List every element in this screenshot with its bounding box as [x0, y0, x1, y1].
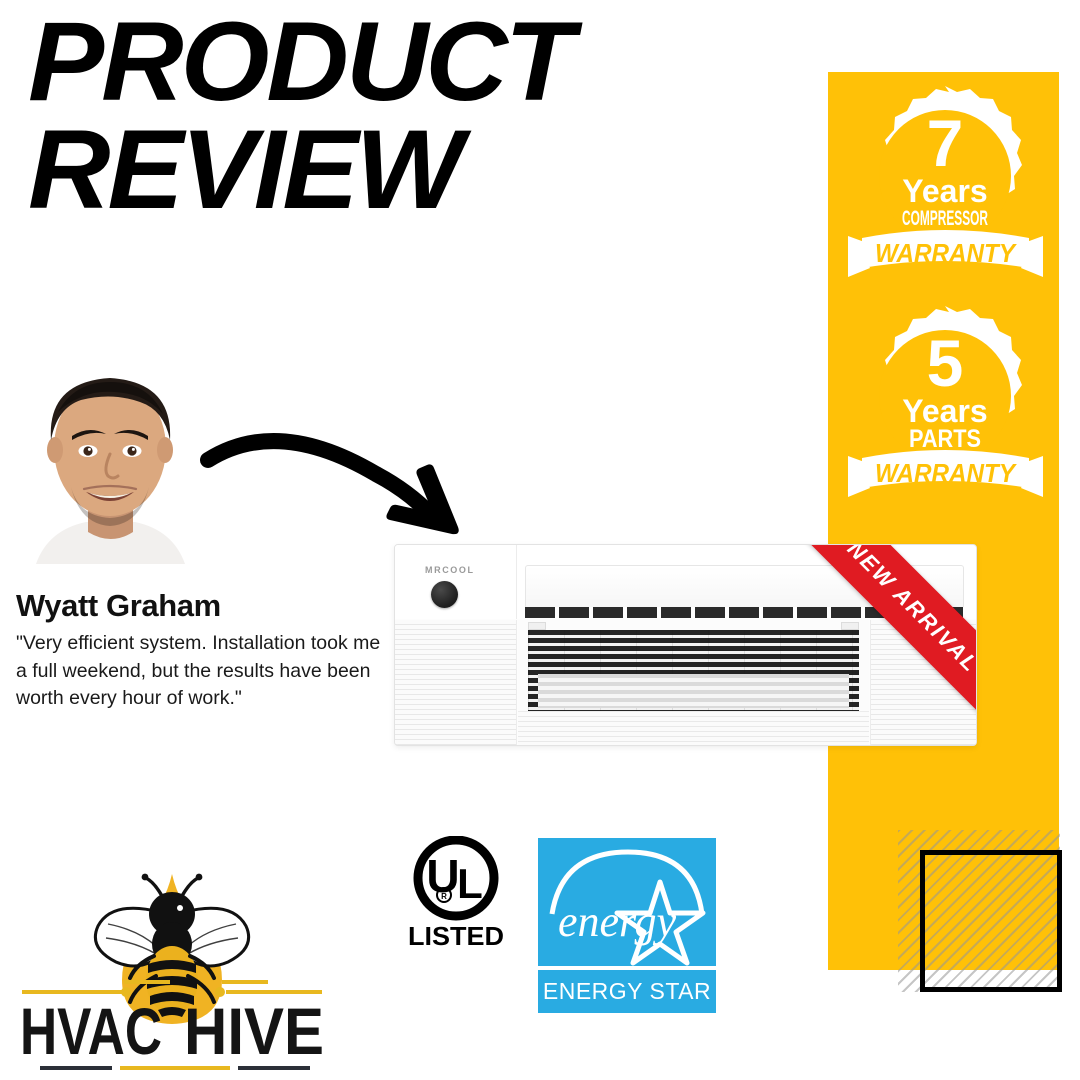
badge-compressor-warranty: 7 Years COMPRESSOR WARRANTY [838, 78, 1053, 288]
title-line-2: REVIEW [28, 116, 742, 224]
energy-star-label: ENERGY STAR [543, 978, 711, 1005]
page-title: PRODUCT REVIEW [28, 8, 742, 223]
energy-script: energy [558, 897, 677, 946]
badge-subject-compressor: COMPRESSOR [902, 207, 988, 230]
energy-star-logo: energy ENERGY STAR [538, 838, 716, 1013]
logo-text-hvac: HVAC [20, 994, 162, 1068]
product-image: MRCOOL NEW ARRIVAL [394, 544, 977, 746]
badge-banner-warranty-2: WARRANTY [875, 458, 1017, 488]
ptac-unit: MRCOOL NEW ARRIVAL [394, 544, 977, 746]
badge-subject-parts: PARTS [909, 425, 981, 453]
pointer-arrow-icon [198, 408, 498, 548]
energy-star-mark: energy [538, 838, 716, 966]
grille-tab-right [841, 622, 859, 630]
air-louver-bar [525, 565, 964, 609]
left-fin-panel [395, 620, 517, 745]
badge-years-label-1: Years [902, 173, 987, 209]
logo-text-hive: HIVE [184, 994, 324, 1068]
bottom-fin-panel [518, 711, 869, 745]
brand-logo: HVAC HIVE [12, 852, 332, 1074]
unit-top-section: MRCOOL [395, 545, 976, 619]
avatar [18, 336, 203, 564]
title-line-1: PRODUCT [28, 0, 571, 124]
right-fin-panel [870, 620, 976, 745]
badge-number-5: 5 [927, 326, 964, 400]
outline-square-decoration [920, 850, 1062, 992]
review-quote: "Very efficient system. Installation too… [16, 630, 394, 713]
ul-listed-label: LISTED [408, 921, 504, 951]
badge-years-label-2: Years [902, 393, 987, 429]
ul-letter-l: L [457, 860, 483, 907]
badge-parts-warranty: 5 Years PARTS WARRANTY [838, 298, 1053, 508]
grille-tab-left [528, 622, 546, 630]
unit-control-panel: MRCOOL [395, 545, 517, 619]
energy-star-label-box: ENERGY STAR [538, 970, 716, 1013]
product-brand-label: MRCOOL [425, 565, 475, 575]
reviewer-name: Wyatt Graham [16, 588, 221, 624]
poster-canvas: PRODUCT REVIEW [0, 0, 1080, 1080]
badge-banner-warranty-1: WARRANTY [875, 238, 1017, 268]
registered-mark: R [441, 892, 447, 901]
control-knob[interactable] [431, 581, 458, 608]
badge-number-7: 7 [927, 106, 964, 180]
louver-vents [525, 607, 964, 618]
grille-mid-band [538, 674, 849, 708]
ul-listed-logo: U L R LISTED [398, 836, 514, 951]
